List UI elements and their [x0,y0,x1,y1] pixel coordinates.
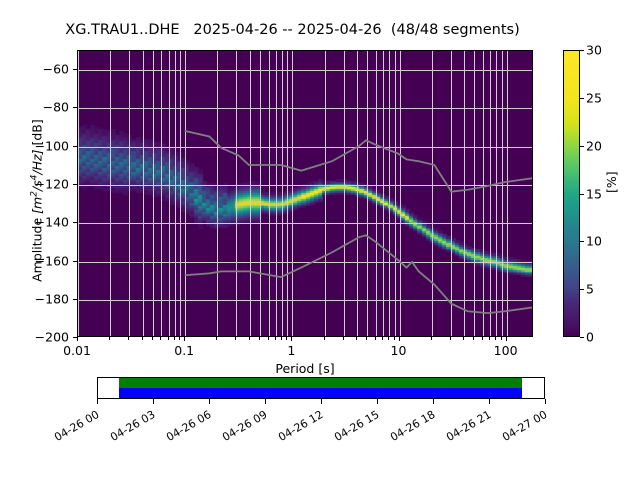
y-tick [73,337,77,338]
x-tick-major [399,337,400,341]
timeline-tick [545,399,546,404]
x-tick-minor [249,337,250,340]
x-tick-minor [152,337,153,340]
colorbar-tick-label: 15 [586,186,602,201]
x-tick-label: 0.01 [63,343,91,358]
x-tick-minor [394,337,395,340]
x-tick-minor [235,337,236,340]
y-tick-label: −200 [10,330,69,345]
colorbar-tick-label: 5 [586,282,594,297]
timeline-tick [265,399,266,404]
x-tick-minor [286,337,287,340]
x-tick-minor [268,337,269,340]
x-tick-major [184,337,185,341]
x-tick-minor [482,337,483,340]
colorbar-tick-label: 30 [586,43,602,58]
timeline-tick [433,399,434,404]
data-coverage-timeline[interactable] [97,377,545,399]
timeline-tick [153,399,154,404]
colorbar-tick [580,241,584,242]
timeline-tick [97,399,98,404]
x-tick-minor [450,337,451,340]
x-tick-label: 0.1 [174,343,194,358]
timeline-tick-label: 04-27 00 [498,408,550,445]
x-tick-minor [463,337,464,340]
ppsd-plot-root: XG.TRAU1..DHE 2025-04-26 -- 2025-04-26 (… [0,0,640,480]
x-tick-minor [109,337,110,340]
x-axis-title: Period [s] [77,361,533,376]
timeline-tick-label: 04-26 03 [106,408,158,445]
colorbar-tick [580,146,584,147]
colorbar-tick [580,98,584,99]
x-tick-minor [343,337,344,340]
x-tick-minor [375,337,376,340]
nlnm-curve [185,235,532,313]
x-tick-label: 100 [494,343,518,358]
timeline-tick-label: 04-26 09 [218,408,270,445]
colorbar-tick-label: 20 [586,138,602,153]
x-tick-minor [489,337,490,340]
x-tick-minor [501,337,502,340]
x-tick-minor [382,337,383,340]
y-tick [73,107,77,108]
x-tick-minor [174,337,175,340]
x-tick-minor [366,337,367,340]
page-title: XG.TRAU1..DHE 2025-04-26 -- 2025-04-26 (… [0,22,585,38]
timeline-tick [209,399,210,404]
x-tick-minor [431,337,432,340]
x-tick-minor [473,337,474,340]
x-tick-minor [142,337,143,340]
x-tick-minor [259,337,260,340]
x-tick-minor [216,337,217,340]
colorbar-tick [580,289,584,290]
data-coverage-blue [119,388,522,398]
timeline-tick-label: 04-26 15 [330,408,382,445]
timeline-tick-label: 04-26 21 [442,408,494,445]
x-tick-minor [275,337,276,340]
x-tick-major [291,337,292,341]
y-tick [73,222,77,223]
colorbar-tick-label: 0 [586,330,594,345]
y-tick [73,69,77,70]
x-tick-major [506,337,507,341]
timeline-bands [98,378,544,398]
ppsd-axes [77,50,533,337]
y-tick-label: −60 [10,62,69,77]
nhnm-curve [185,131,532,192]
data-coverage-green [119,378,522,388]
timeline-tick-label: 04-26 00 [50,408,102,445]
y-tick [73,184,77,185]
timeline-tick [321,399,322,404]
colorbar-title: [%] [604,171,619,193]
colorbar-tick [580,337,584,338]
x-tick-minor [356,337,357,340]
x-tick-minor [168,337,169,340]
y-tick [73,299,77,300]
x-tick-minor [179,337,180,340]
timeline-tick [489,399,490,404]
x-tick-label: 10 [391,343,407,358]
y-axis-title: Amplitude [m2/s4/Hz] [dB] [29,76,44,326]
x-tick-minor [495,337,496,340]
noise-model-curves [78,51,532,336]
timeline-tick [377,399,378,404]
colorbar-tick [580,50,584,51]
x-tick-label: 1 [287,343,295,358]
y-tick [73,261,77,262]
timeline-tick-label: 04-26 18 [386,408,438,445]
colorbar-tick-label: 10 [586,234,602,249]
colorbar [563,50,580,337]
x-tick-minor [281,337,282,340]
x-tick-minor [388,337,389,340]
timeline-tick-label: 04-26 06 [162,408,214,445]
y-tick [73,146,77,147]
x-tick-minor [324,337,325,340]
x-tick-minor [160,337,161,340]
colorbar-tick-label: 25 [586,90,602,105]
x-tick-minor [128,337,129,340]
colorbar-tick [580,194,584,195]
axes-clip [78,51,532,336]
timeline-tick-label: 04-26 12 [274,408,326,445]
x-tick-major [77,337,78,341]
